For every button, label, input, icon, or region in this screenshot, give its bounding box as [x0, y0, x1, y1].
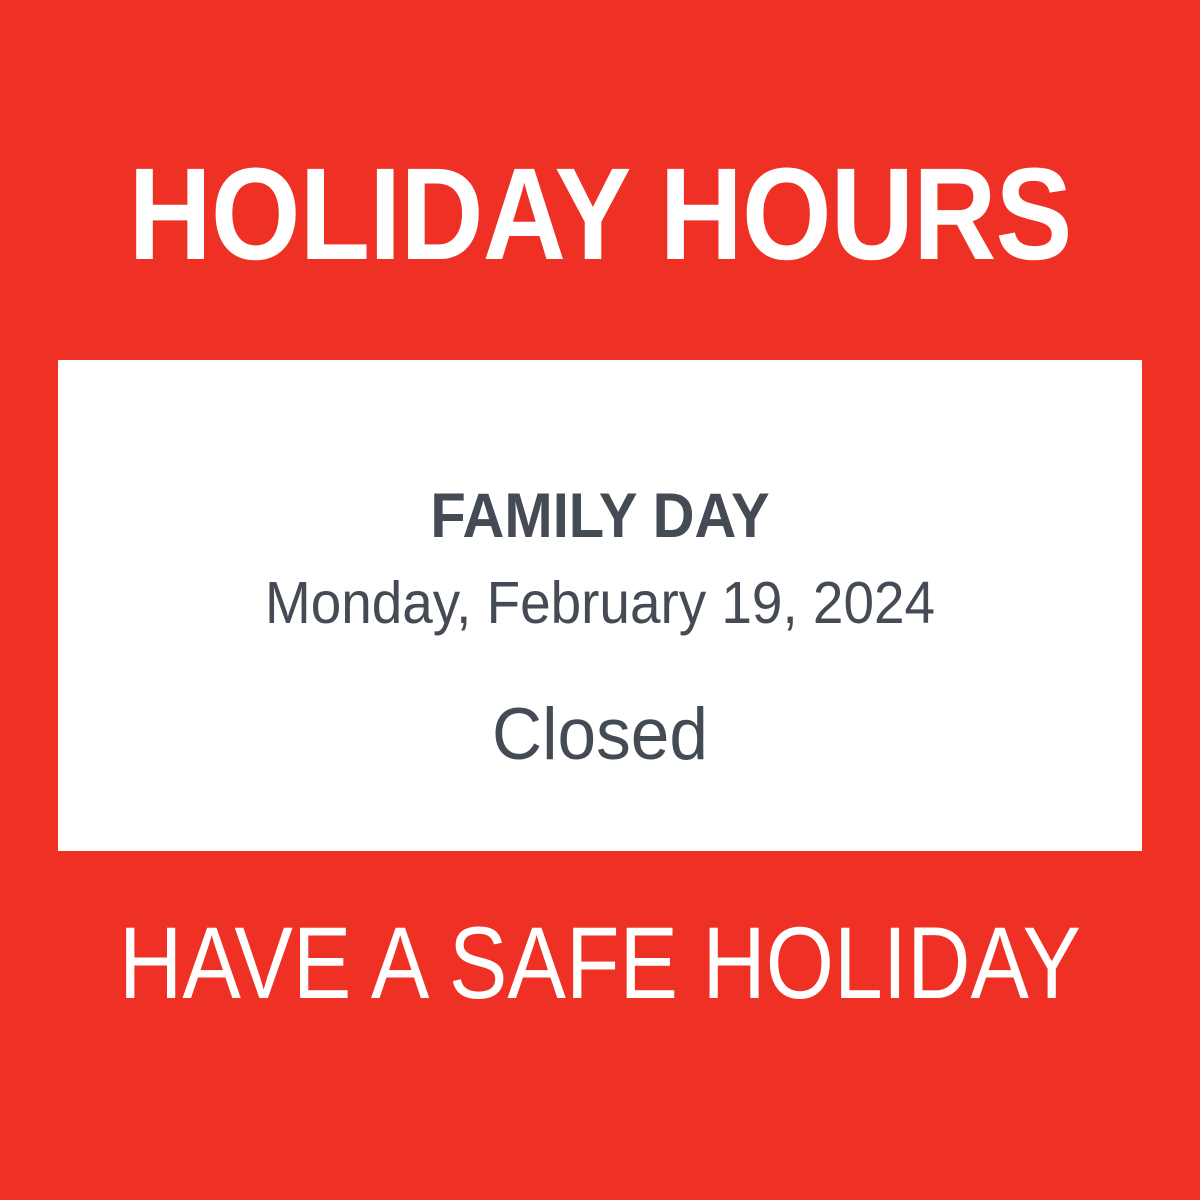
holiday-hours-sign: HOLIDAY HOURS FAMILY DAY Monday, Februar… [0, 0, 1200, 1200]
holiday-date: Monday, February 19, 2024 [96, 574, 1104, 633]
holiday-notice-content: FAMILY DAY Monday, February 19, 2024 Clo… [58, 360, 1142, 851]
page-title: HOLIDAY HOURS [72, 148, 1128, 279]
holiday-name: FAMILY DAY [101, 485, 1098, 548]
status-badge: Closed [85, 698, 1115, 771]
holiday-notice-card: FAMILY DAY Monday, February 19, 2024 Clo… [58, 360, 1142, 851]
footer-message: HAVE A SAFE HOLIDAY [84, 912, 1116, 1014]
